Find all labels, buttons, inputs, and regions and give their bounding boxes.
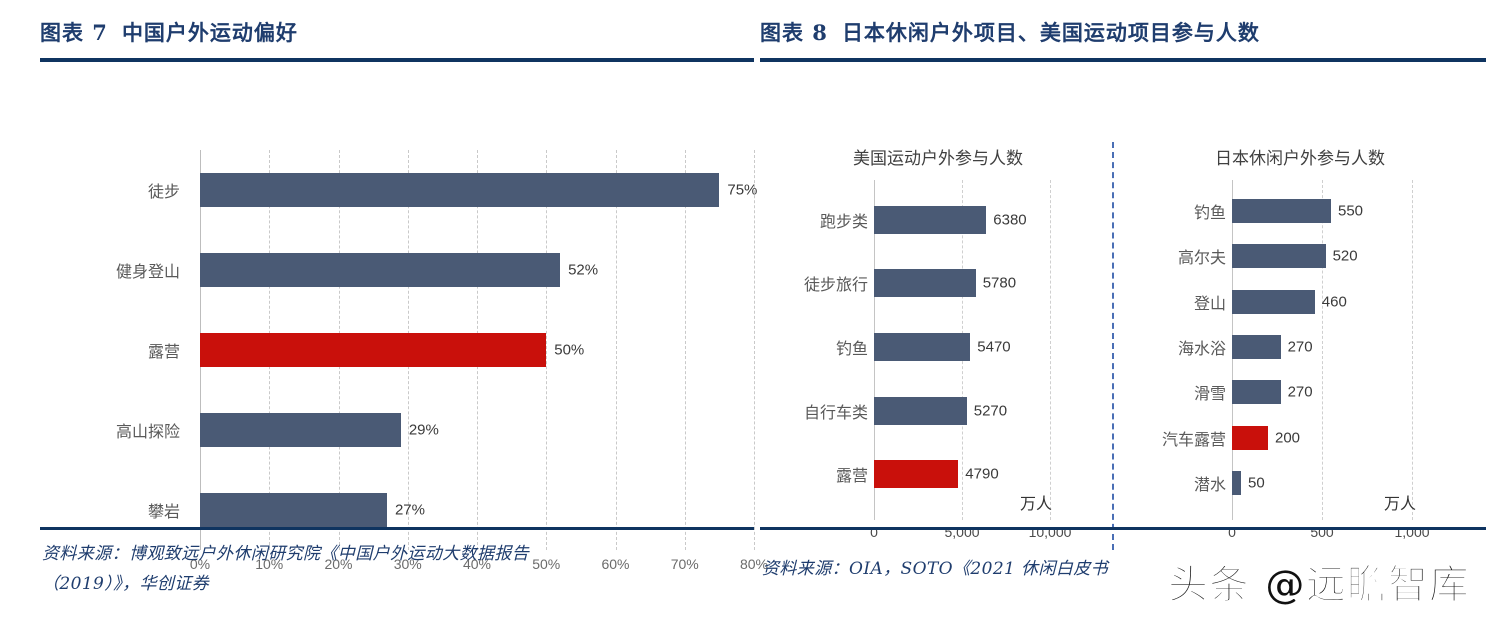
bar-row: 460 [1232,279,1412,324]
bar-value-label: 50% [554,342,584,359]
bar-row: 50% [200,310,754,390]
bar-row: 5270 [874,379,1050,443]
bar-value-label: 29% [409,422,439,439]
bar-钓鱼: 5470 [874,333,970,361]
japan-category-axis: 钓鱼高尔夫登山海水浴滑雪汽车露营潜水 [1122,180,1226,520]
category-label-高山探险: 高山探险 [40,390,180,470]
figure-7-footer-rule [40,527,754,530]
japan-plot-area: 55052046027027020050 [1232,180,1412,520]
bar-row: 5470 [874,315,1050,379]
japan-subchart-title: 日本休闲户外参与人数 [1122,144,1478,169]
bar-row: 270 [1232,324,1412,369]
bar-value-label: 50 [1248,475,1265,492]
bar-row: 550 [1232,188,1412,233]
bar-徒步旅行: 5780 [874,269,976,297]
japan-bars: 55052046027027020050 [1232,180,1412,520]
category-label-高尔夫: 高尔夫 [1122,233,1226,278]
bar-value-label: 6380 [993,211,1026,228]
category-label-自行车类: 自行车类 [768,379,868,443]
gridline-1000 [1412,180,1413,520]
figure-7-source-line-1: 资料来源：博观致远户外休闲研究院《中国户外运动大数据报告 [42,540,752,570]
bar-自行车类: 5270 [874,397,967,425]
bar-row: 5780 [874,252,1050,316]
bar-徒步: 75% [200,173,719,207]
bar-value-label: 520 [1333,248,1358,265]
watermark: 头条 @远瞻智库 [1168,552,1470,610]
figure-7-title-text: 中国户外运动偏好 [122,20,298,45]
bar-value-label: 550 [1338,202,1363,219]
figure-8-title-line: 图表 8日本休闲户外项目、美国运动项目参与人数 [760,20,1486,45]
bar-滑雪: 270 [1232,380,1281,404]
category-label-露营: 露营 [768,442,868,506]
bar-value-label: 27% [395,502,425,519]
bar-登山: 460 [1232,290,1315,314]
bar-row: 27% [200,470,754,550]
panel-divider [1112,142,1114,550]
category-label-露营: 露营 [40,310,180,390]
bar-row: 6380 [874,188,1050,252]
us-category-axis: 跑步类徒步旅行钓鱼自行车类露营 [768,180,868,520]
us-subchart-title: 美国运动户外参与人数 [768,144,1108,169]
bar-value-label: 270 [1288,384,1313,401]
bar-攀岩: 27% [200,493,387,527]
us-bars: 63805780547052704790 [874,180,1050,520]
bar-value-label: 75% [727,182,757,199]
figure-8-number: 图表 8 [760,20,828,45]
bar-value-label: 460 [1322,293,1347,310]
bar-value-label: 270 [1288,338,1313,355]
category-label-登山: 登山 [1122,279,1226,324]
bar-row: 520 [1232,233,1412,278]
figure-page: 图表 7中国户外运动偏好 徒步健身登山露营高山探险攀岩 75%52%50%29%… [0,0,1486,620]
bar-健身登山: 52% [200,253,560,287]
figure-7-source: 资料来源：博观致远户外休闲研究院《中国户外运动大数据报告 （2019）》，华创证… [42,540,752,600]
china-chart-category-axis: 徒步健身登山露营高山探险攀岩 [40,150,190,550]
figure-8-panel: 图表 8日本休闲户外项目、美国运动项目参与人数 美国运动户外参与人数 跑步类徒步… [760,0,1486,620]
us-subchart: 美国运动户外参与人数 跑步类徒步旅行钓鱼自行车类露营 6380578054705… [768,132,1108,572]
bar-钓鱼: 550 [1232,199,1331,223]
bar-value-label: 4790 [965,466,998,483]
us-unit-label: 万人 [1020,490,1052,514]
china-chart-plot-area: 75%52%50%29%27% [200,150,754,550]
bar-row: 29% [200,390,754,470]
category-label-海水浴: 海水浴 [1122,324,1226,369]
category-label-攀岩: 攀岩 [40,470,180,550]
figure-8-footer-rule [760,527,1486,530]
bar-row: 52% [200,230,754,310]
figure-7-chart-body: 徒步健身登山露营高山探险攀岩 75%52%50%29%27% 0%10%20%3… [40,62,754,512]
bar-露营: 4790 [874,460,958,488]
category-label-健身登山: 健身登山 [40,230,180,310]
category-label-潜水: 潜水 [1122,461,1226,506]
bar-露营: 50% [200,333,546,367]
bar-value-label: 5780 [983,275,1016,292]
bar-row: 75% [200,150,754,230]
bar-row: 200 [1232,415,1412,460]
gridline-10000 [1050,180,1051,520]
bar-高山探险: 29% [200,413,401,447]
category-label-徒步: 徒步 [40,150,180,230]
japan-subchart: 日本休闲户外参与人数 钓鱼高尔夫登山海水浴滑雪汽车露营潜水 5505204602… [1122,132,1478,572]
bar-跑步类: 6380 [874,206,986,234]
figure-7-header: 图表 7中国户外运动偏好 [40,0,754,62]
bar-row: 270 [1232,370,1412,415]
figure-8-title-text: 日本休闲户外项目、美国运动项目参与人数 [842,20,1260,45]
china-chart-bars: 75%52%50%29%27% [200,150,754,550]
bar-潜水: 50 [1232,471,1241,495]
figure-8-dual-chart: 美国运动户外参与人数 跑步类徒步旅行钓鱼自行车类露营 6380578054705… [760,132,1486,572]
bar-value-label: 5270 [974,402,1007,419]
figure-8-header: 图表 8日本休闲户外项目、美国运动项目参与人数 [760,0,1486,62]
bar-value-label: 200 [1275,429,1300,446]
japan-unit-label: 万人 [1384,490,1416,514]
us-plot-area: 63805780547052704790 [874,180,1050,520]
bar-value-label: 5470 [977,338,1010,355]
bar-value-label: 52% [568,262,598,279]
figure-7-title-line: 图表 7中国户外运动偏好 [40,20,754,45]
category-label-钓鱼: 钓鱼 [768,315,868,379]
figure-8-chart-body: 美国运动户外参与人数 跑步类徒步旅行钓鱼自行车类露营 6380578054705… [760,62,1486,512]
gridline-80 [754,150,755,550]
bar-海水浴: 270 [1232,335,1281,359]
category-label-徒步旅行: 徒步旅行 [768,252,868,316]
figure-7-panel: 图表 7中国户外运动偏好 徒步健身登山露营高山探险攀岩 75%52%50%29%… [40,0,754,620]
china-preference-chart: 徒步健身登山露营高山探险攀岩 75%52%50%29%27% 0%10%20%3… [40,132,754,572]
bar-高尔夫: 520 [1232,244,1326,268]
figure-7-source-line-2: （2019）》，华创证券 [42,570,752,600]
figure-7-number: 图表 7 [40,20,108,45]
category-label-跑步类: 跑步类 [768,188,868,252]
category-label-滑雪: 滑雪 [1122,370,1226,415]
category-label-钓鱼: 钓鱼 [1122,188,1226,233]
category-label-汽车露营: 汽车露营 [1122,415,1226,460]
bar-汽车露营: 200 [1232,426,1268,450]
